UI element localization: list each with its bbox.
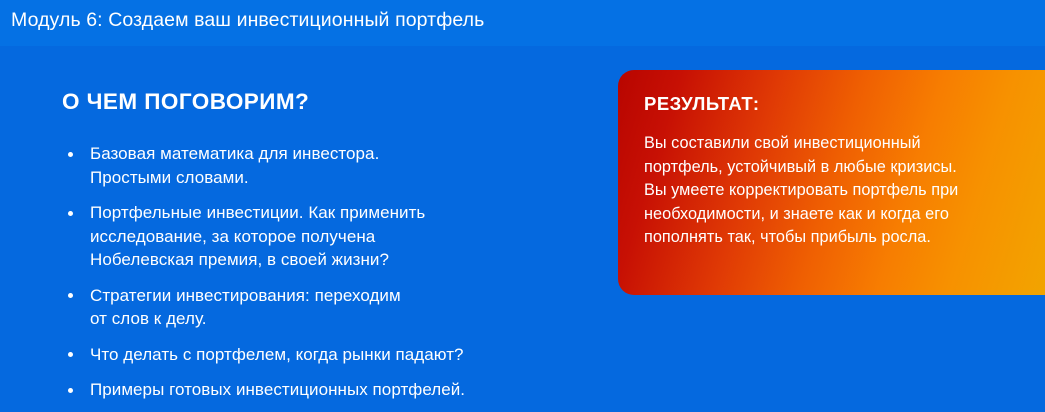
agenda-section: О ЧЕМ ПОГОВОРИМ? Базовая математика для … xyxy=(62,88,592,402)
list-item-line: Примеры готовых инвестиционных портфелей… xyxy=(90,378,592,402)
list-item: Базовая математика для инвестора. Просты… xyxy=(62,142,592,189)
list-item-line: Стратегии инвестирования: переходим xyxy=(90,284,592,308)
result-body-line: необходимости, и знаете как и когда его xyxy=(644,203,1019,227)
list-item-line: Портфельные инвестиции. Как применить xyxy=(90,201,592,225)
list-item-line: Базовая математика для инвестора. xyxy=(90,142,592,166)
result-card-body: Вы составили свой инвестиционный портфел… xyxy=(644,132,1019,250)
list-item: Примеры готовых инвестиционных портфелей… xyxy=(62,378,592,402)
list-item-line: Что делать с портфелем, когда рынки пада… xyxy=(90,343,592,367)
result-card-heading: РЕЗУЛЬТАТ: xyxy=(644,92,1019,116)
list-item-line: исследование, за которое получена xyxy=(90,225,592,249)
bullet-dot-icon xyxy=(68,211,73,216)
bullet-dot-icon xyxy=(68,388,73,393)
module-title: Модуль 6: Создаем ваш инвестиционный пор… xyxy=(11,6,711,34)
list-item: Портфельные инвестиции. Как применить ис… xyxy=(62,201,592,272)
result-body-line: Вы составили свой инвестиционный xyxy=(644,132,1019,156)
list-item: Что делать с портфелем, когда рынки пада… xyxy=(62,343,592,367)
list-item-line: от слов к делу. xyxy=(90,307,592,331)
agenda-bullet-list: Базовая математика для инвестора. Просты… xyxy=(62,142,592,402)
bullet-dot-icon xyxy=(68,152,73,157)
slide-root: Модуль 6: Создаем ваш инвестиционный пор… xyxy=(0,0,1045,412)
list-item: Стратегии инвестирования: переходим от с… xyxy=(62,284,592,331)
result-body-line: пополнять так, чтобы прибыль росла. xyxy=(644,226,1019,250)
result-card: РЕЗУЛЬТАТ: Вы составили свой инвестицион… xyxy=(618,70,1045,295)
bullet-dot-icon xyxy=(68,293,73,298)
bullet-dot-icon xyxy=(68,352,73,357)
list-item-line: Нобелевская премия, в своей жизни? xyxy=(90,248,592,272)
result-body-line: Вы умеете корректировать портфель при xyxy=(644,179,1019,203)
agenda-heading: О ЧЕМ ПОГОВОРИМ? xyxy=(62,88,592,116)
result-body-line: портфель, устойчивый в любые кризисы. xyxy=(644,156,1019,180)
list-item-line: Простыми словами. xyxy=(90,166,592,190)
